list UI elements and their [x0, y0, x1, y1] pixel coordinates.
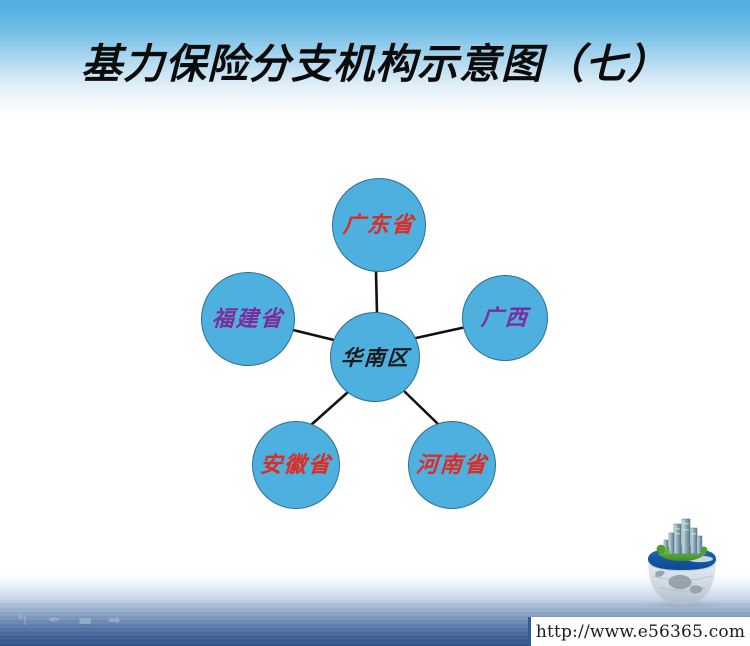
edge-center-guangdong [376, 272, 377, 313]
node-henan[interactable]: 河南省 [408, 421, 496, 509]
node-guangxi[interactable]: 广西 [462, 275, 548, 361]
node-anhui[interactable]: 安徽省 [252, 421, 340, 509]
node-henan-label: 河南省 [415, 454, 489, 476]
edge-center-guangxi [416, 327, 466, 338]
node-fujian[interactable]: 福建省 [201, 272, 295, 366]
edge-center-fujian [293, 330, 334, 340]
node-guangdong-label: 广东省 [342, 214, 416, 236]
watermark-url: http://www.e56365.com [536, 622, 745, 642]
node-anhui-label: 安徽省 [259, 454, 333, 476]
node-center-huanan[interactable]: 华南区 [330, 312, 420, 402]
node-center-label: 华南区 [340, 347, 410, 368]
node-guangdong[interactable]: 广东省 [332, 178, 426, 272]
watermark-bar: http://www.e56365.com [528, 617, 750, 646]
edge-center-henan [405, 392, 438, 424]
node-guangxi-label: 广西 [480, 307, 530, 329]
node-fujian-label: 福建省 [211, 308, 285, 330]
slide-canvas: ↰ ✒ ▬ ➡ 基力保险分支机构示意图（七） 广东省 广西 福建省 [0, 0, 750, 646]
edge-center-anhui [311, 392, 348, 425]
earth-globe-icon [634, 516, 730, 608]
